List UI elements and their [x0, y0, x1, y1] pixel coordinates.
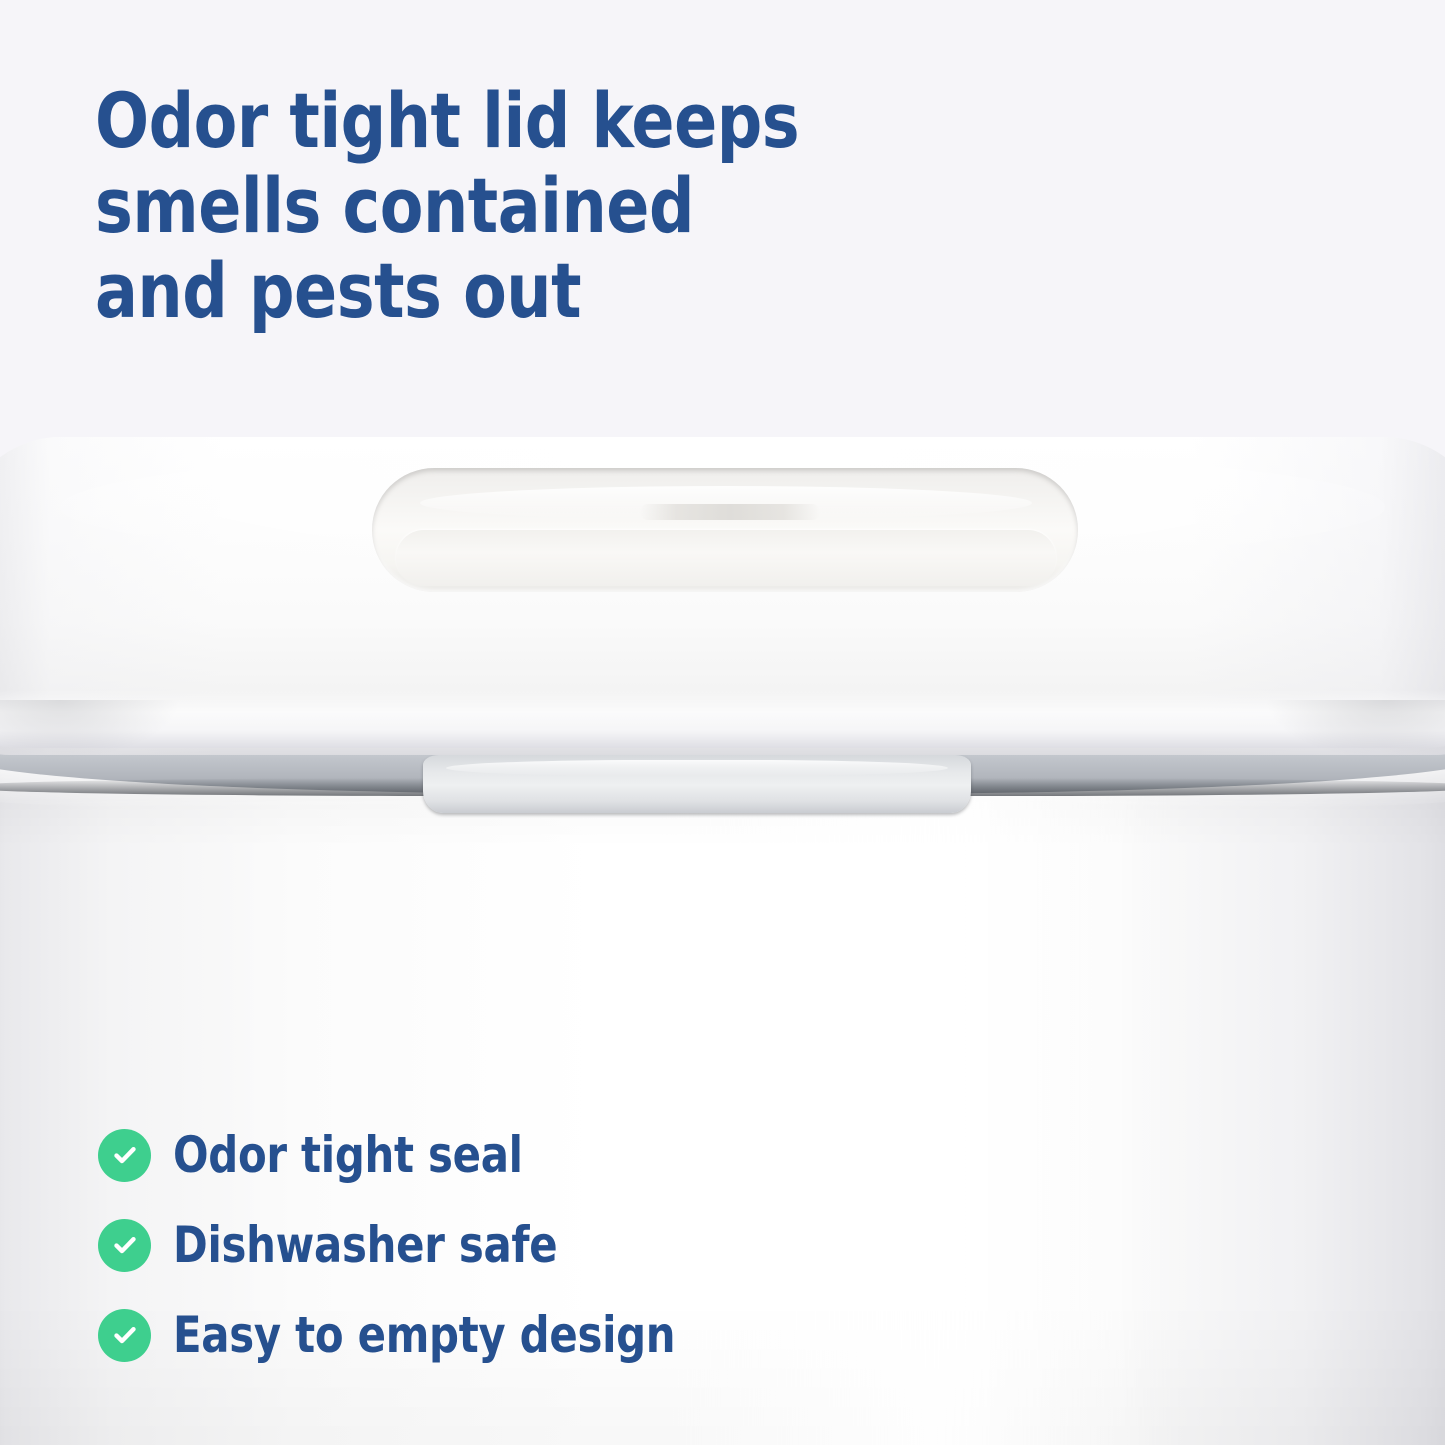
lid-latch-tab-highlight	[446, 760, 948, 776]
headline-line-3: and pests out	[95, 248, 876, 333]
product-feature-image: Odor tight lid keeps smells contained an…	[0, 0, 1445, 1445]
feature-bullet-label: Dishwasher safe	[173, 1220, 557, 1270]
check-circle-icon	[98, 1219, 151, 1272]
lid-embossed-mark	[640, 504, 820, 520]
lid-handle-bar	[396, 530, 1056, 586]
check-circle-icon	[98, 1309, 151, 1362]
lid-corner-shadow-right	[1265, 700, 1445, 760]
lid-corner-shadow-left	[0, 700, 180, 760]
feature-bullet-label: Easy to empty design	[173, 1310, 675, 1360]
feature-bullet-item: Easy to empty design	[98, 1294, 998, 1376]
check-circle-icon	[98, 1129, 151, 1182]
headline: Odor tight lid keeps smells contained an…	[95, 78, 876, 333]
lid-front-lip	[0, 690, 1445, 748]
feature-bullet-item: Odor tight seal	[98, 1114, 998, 1196]
feature-bullet-list: Odor tight seal Dishwasher safe Easy to …	[98, 1114, 998, 1384]
feature-bullet-label: Odor tight seal	[173, 1130, 523, 1180]
headline-line-1: Odor tight lid keeps	[95, 78, 876, 163]
headline-line-2: smells contained	[95, 163, 876, 248]
feature-bullet-item: Dishwasher safe	[98, 1204, 998, 1286]
